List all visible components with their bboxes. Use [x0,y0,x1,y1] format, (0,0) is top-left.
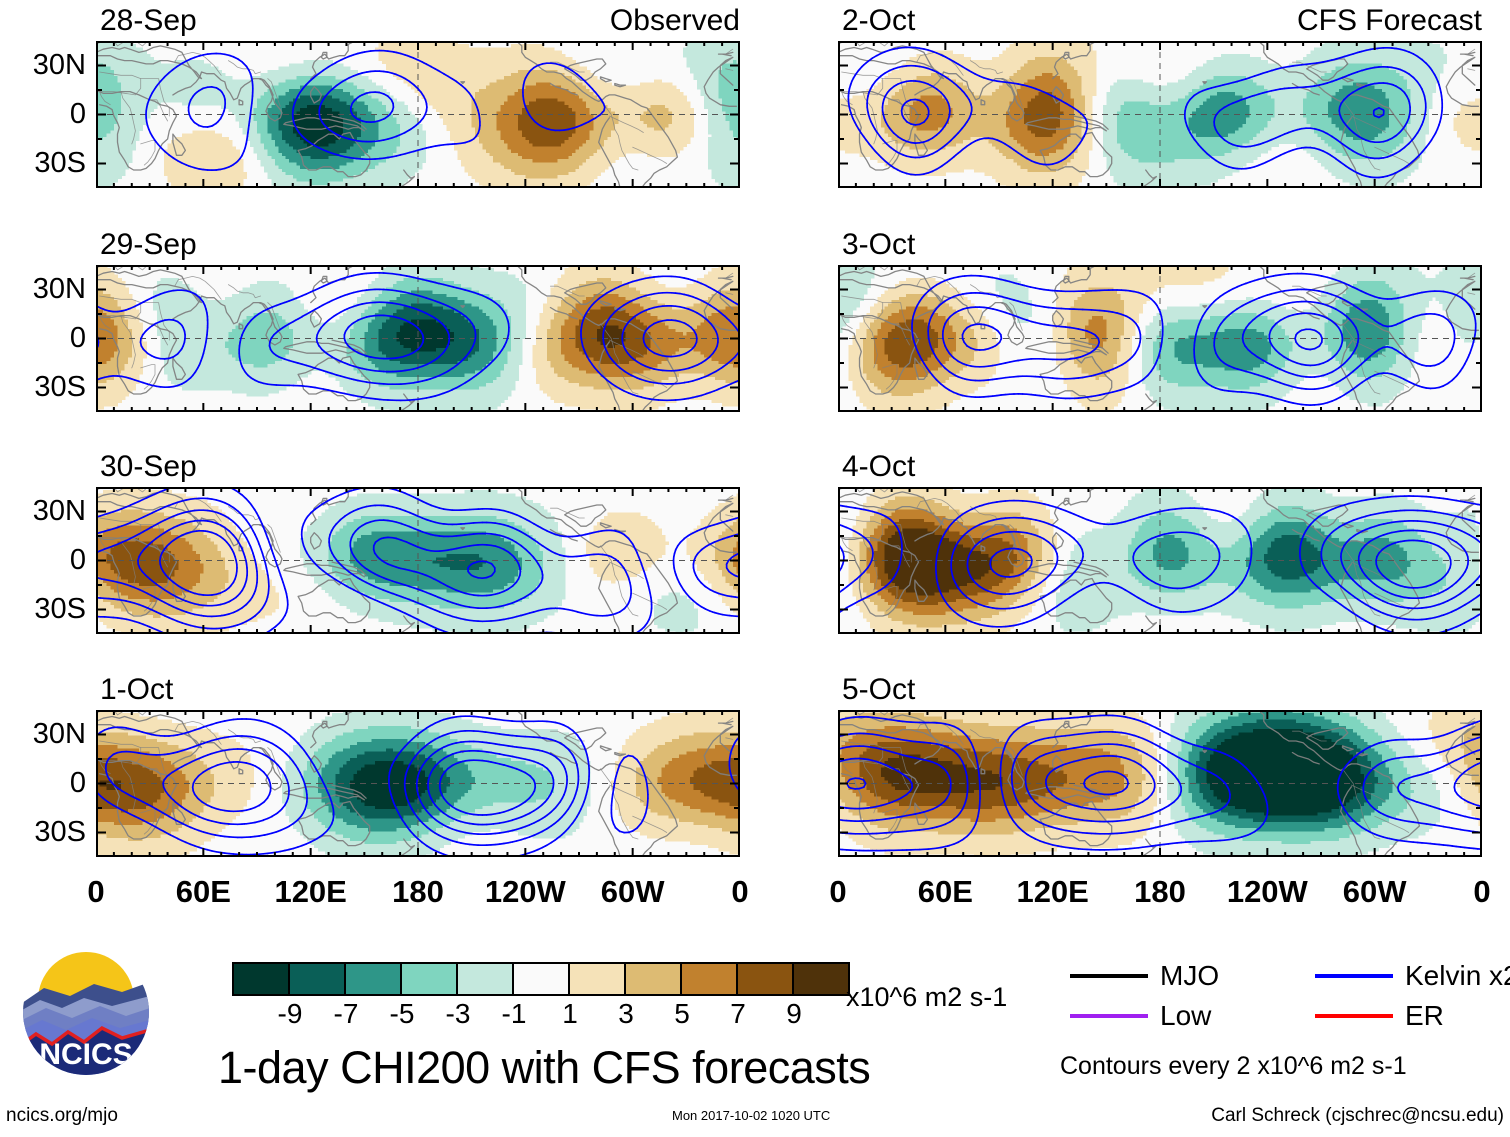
colorbar-swatch-8 [680,964,736,994]
panel-date-3-oct: 3-Oct [842,230,915,260]
page-title: 1-day CHI200 with CFS forecasts [218,1042,870,1094]
y-tick-30n: 30N [0,51,86,80]
y-tick-0: 0 [0,100,86,129]
x-tick-120e: 120E [993,876,1113,907]
y-tick-30n: 30N [0,275,86,304]
legend-item-mjo[interactable]: MJO [1070,962,1219,990]
x-tick-0: 0 [778,876,898,907]
y-tick-0: 0 [0,546,86,575]
footer-timestamp: Mon 2017-10-02 1020 UTC [672,1108,830,1123]
ncics-logo-icon: NCICS [22,948,150,1076]
map-panel-plot [96,487,740,634]
map-panel-30-sep[interactable] [96,487,740,634]
map-panel-2-oct[interactable] [838,41,1482,188]
y-tick-30n: 30N [0,720,86,749]
map-panel-plot [838,487,1482,634]
x-tick-0: 0 [1422,876,1510,907]
map-panel-5-oct[interactable] [838,710,1482,857]
colorbar-swatch-1 [288,964,344,994]
y-tick-0: 0 [0,324,86,353]
footer-left[interactable]: ncics.org/mjo [6,1105,118,1127]
panel-date-29-sep: 29-Sep [100,230,197,260]
colorbar-swatches[interactable] [232,962,850,996]
colorbar-tick-9: 9 [754,1000,834,1028]
legend-label-mjo: MJO [1160,962,1219,990]
y-tick-0: 0 [0,769,86,798]
mjo-line-icon [1070,974,1148,978]
panel-date-30-sep: 30-Sep [100,452,197,482]
contour-interval-note: Contours every 2 x10^6 m2 s-1 [1060,1052,1407,1081]
legend-item-low[interactable]: Low [1070,1002,1211,1030]
colorbar-swatch-5 [512,964,568,994]
colorbar-swatch-6 [568,964,624,994]
y-tick-30n: 30N [0,497,86,526]
map-panel-1-oct[interactable] [96,710,740,857]
legend-item-kelvin[interactable]: Kelvin x2 [1315,962,1510,990]
x-tick-60w: 60W [1315,876,1435,907]
panel-date-4-oct: 4-Oct [842,452,915,482]
panel-date-1-oct: 1-Oct [100,675,173,705]
map-panel-plot [838,265,1482,412]
map-panel-plot [838,41,1482,188]
map-panel-plot [96,265,740,412]
colorbar-units: x10^6 m2 s-1 [846,982,1007,1013]
x-tick-60e: 60E [143,876,263,907]
y-tick-30s: 30S [0,149,86,178]
colorbar-swatch-0 [234,964,288,994]
low-line-icon [1070,1014,1148,1018]
column-header-cfs-forecast: CFS Forecast [838,6,1482,36]
legend-label-er: ER [1405,1002,1444,1030]
legend-item-er[interactable]: ER [1315,1002,1444,1030]
x-tick-180: 180 [1100,876,1220,907]
colorbar-swatch-4 [456,964,512,994]
column-header-observed: Observed [96,6,740,36]
panel-date-5-oct: 5-Oct [842,675,915,705]
x-tick-60w: 60W [573,876,693,907]
map-panel-3-oct[interactable] [838,265,1482,412]
legend-label-low: Low [1160,1002,1211,1030]
x-tick-0: 0 [36,876,156,907]
map-panel-29-sep[interactable] [96,265,740,412]
map-panel-28-sep[interactable] [96,41,740,188]
colorbar-swatch-2 [344,964,400,994]
legend-label-kelvin: Kelvin x2 [1405,962,1510,990]
kelvin-line-icon [1315,974,1393,978]
x-tick-120w: 120W [465,876,585,907]
y-tick-30s: 30S [0,373,86,402]
er-line-icon [1315,1014,1393,1018]
legend: MJO Kelvin x2 Low ER [1070,962,1500,1048]
colorbar-swatch-3 [400,964,456,994]
map-panel-4-oct[interactable] [838,487,1482,634]
x-tick-120e: 120E [251,876,371,907]
colorbar-swatch-10 [792,964,848,994]
colorbar-swatch-7 [624,964,680,994]
colorbar[interactable]: -9-7-5-3-113579 [232,962,850,996]
x-tick-60e: 60E [885,876,1005,907]
x-tick-120w: 120W [1207,876,1327,907]
y-tick-30s: 30S [0,595,86,624]
colorbar-swatch-9 [736,964,792,994]
map-panel-plot [96,710,740,857]
y-tick-30s: 30S [0,818,86,847]
map-panel-plot [96,41,740,188]
ncics-logo[interactable]: NCICS [22,948,150,1076]
footer-author: Carl Schreck (cjschrec@ncsu.edu) [1211,1105,1504,1127]
x-tick-180: 180 [358,876,478,907]
map-panel-plot [838,710,1482,857]
